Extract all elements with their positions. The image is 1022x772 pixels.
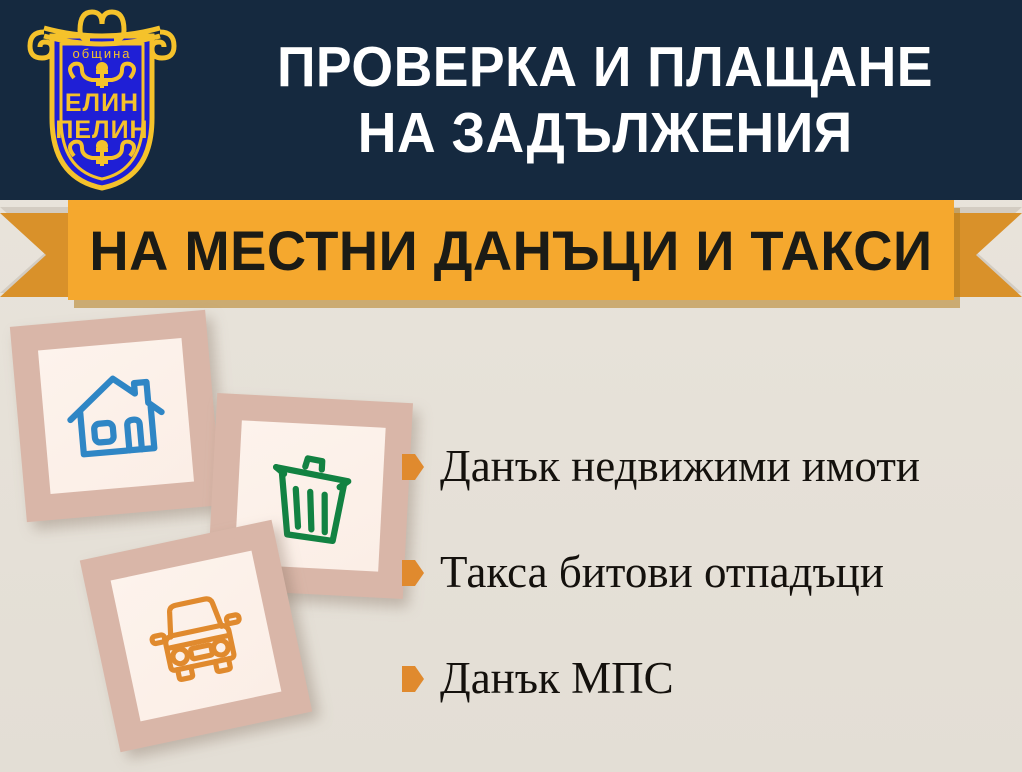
page-title: ПРОВЕРКА И ПЛАЩАНЕ НА ЗАДЪЛЖЕНИЯ xyxy=(190,14,1020,186)
list-item-label: Данък МПС xyxy=(440,652,674,704)
arrow-bullet-icon xyxy=(402,560,424,586)
subtitle-ribbon: НА МЕСТНИ ДАНЪЦИ И ТАКСИ xyxy=(0,199,1022,307)
stamp-icon-area xyxy=(111,551,282,722)
crest-top-label: община xyxy=(22,46,182,61)
crest-name-line2: ПЕЛИН xyxy=(22,116,182,145)
arrow-bullet-icon xyxy=(402,666,424,692)
crest-name-line1: ЕЛИН xyxy=(22,89,182,118)
header-bar: община ЕЛИН ПЕЛИН ПРОВЕРКА И ПЛАЩАНЕ НА … xyxy=(0,0,1022,200)
stamp-house xyxy=(10,310,222,522)
municipality-crest: община ЕЛИН ПЕЛИН xyxy=(22,6,182,192)
tax-types-list: Данък недвижими имоти Такса битови отпад… xyxy=(402,430,1012,748)
page-title-line-2: НА ЗАДЪЛЖЕНИЯ xyxy=(358,100,853,166)
list-item[interactable]: Данък недвижими имоти xyxy=(402,430,1012,502)
arrow-bullet-icon xyxy=(402,454,424,480)
stamp-car xyxy=(80,520,312,752)
house-icon xyxy=(60,360,173,473)
ribbon-band: НА МЕСТНИ ДАНЪЦИ И ТАКСИ xyxy=(68,200,954,300)
list-item-label: Такса битови отпадъци xyxy=(440,546,884,598)
list-item[interactable]: Данък МПС xyxy=(402,642,1012,714)
poster-canvas: община ЕЛИН ПЕЛИН ПРОВЕРКА И ПЛАЩАНЕ НА … xyxy=(0,0,1022,772)
stamp-icon-area xyxy=(38,338,194,494)
list-item[interactable]: Такса битови отпадъци xyxy=(402,536,1012,608)
list-item-label: Данък недвижими имоти xyxy=(440,440,920,492)
page-title-line-1: ПРОВЕРКА И ПЛАЩАНЕ xyxy=(277,34,933,100)
ribbon-label: НА МЕСТНИ ДАНЪЦИ И ТАКСИ xyxy=(81,200,940,300)
car-icon xyxy=(134,574,257,697)
